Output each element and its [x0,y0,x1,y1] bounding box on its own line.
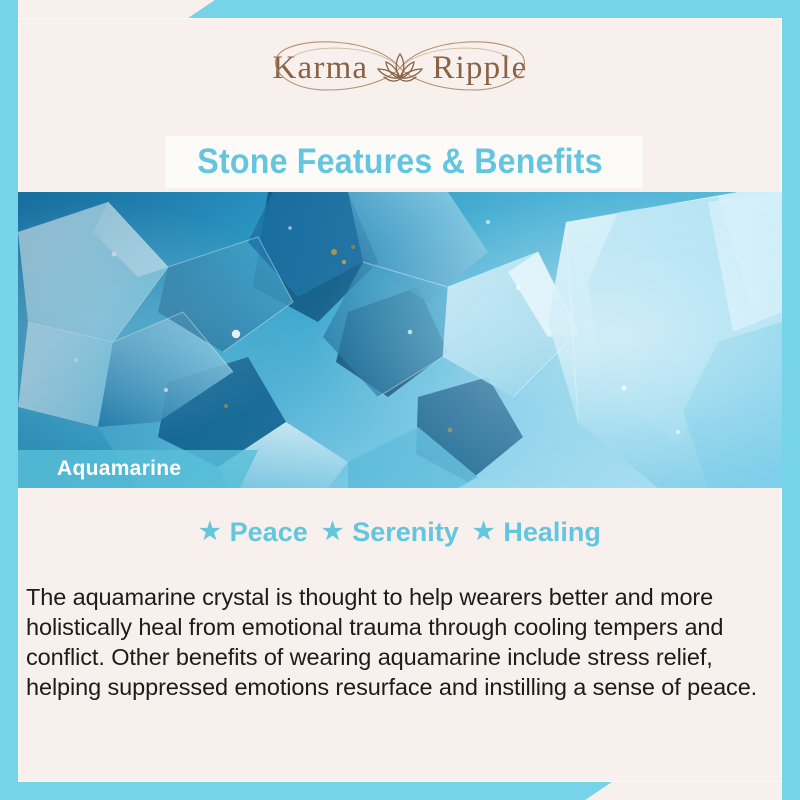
keyword-label: Serenity [352,517,459,548]
stone-description: The aquamarine crystal is thought to hel… [26,582,776,702]
frame-right-bar [782,0,800,800]
frame-bottom-bar [0,782,800,800]
aquamarine-crystal-illustration [18,192,782,488]
star-icon: ★ [322,520,344,544]
stone-photo [18,192,782,488]
keyword-list: ★ Peace ★ Serenity ★ Healing [0,512,800,552]
brand-name-left: Karma [273,52,369,85]
keyword-item-serenity: ★ Serenity [322,517,459,548]
stone-name-ribbon: Aquamarine [18,450,258,488]
lotus-icon [374,44,426,92]
keyword-item-peace: ★ Peace [199,517,308,548]
brand-name-right: Ripple [432,52,527,85]
frame-left-bar [0,0,18,800]
stone-name-label: Aquamarine [57,457,181,481]
keyword-label: Healing [503,517,601,548]
keyword-item-healing: ★ Healing [473,517,601,548]
keyword-label: Peace [230,517,308,548]
page-title: Stone Features & Benefits [32,136,768,188]
star-icon: ★ [199,520,221,544]
brand-logo: Karma Ripple [0,18,800,118]
frame-top-bar [0,0,800,18]
poster-canvas: Karma Ripple Stone Features & Be [0,0,800,800]
star-icon: ★ [473,520,495,544]
